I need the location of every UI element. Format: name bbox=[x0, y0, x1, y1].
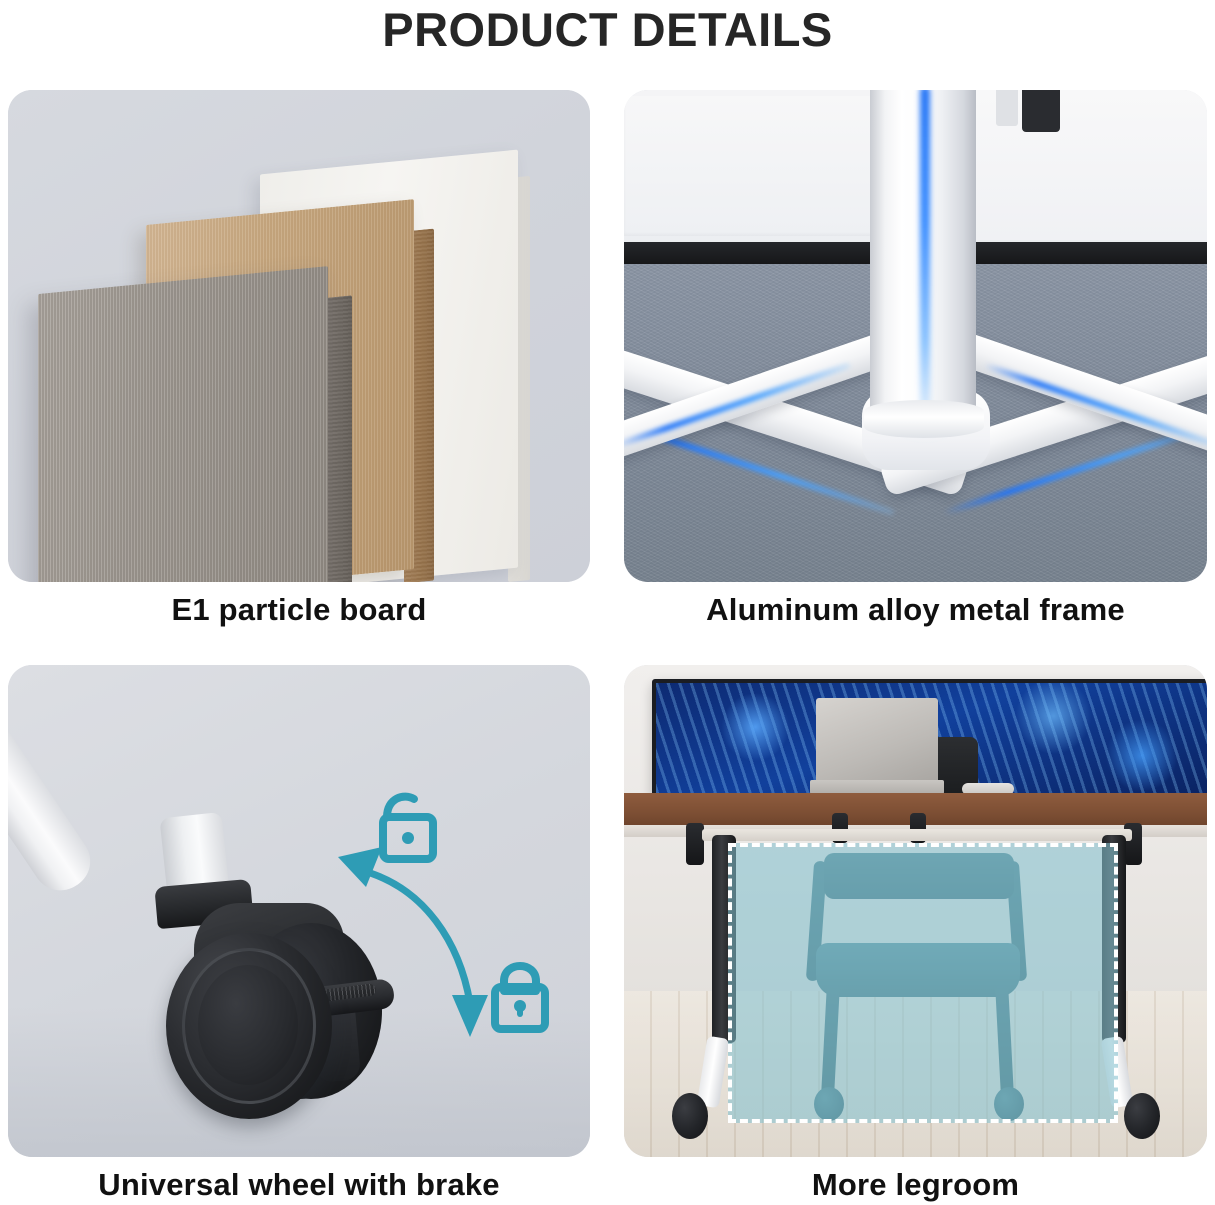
curved-double-arrow bbox=[360, 870, 470, 1003]
desk-caster-left bbox=[672, 1093, 708, 1139]
lock-indicator-group bbox=[8, 665, 590, 1157]
photo-universal-wheel bbox=[8, 665, 590, 1157]
photo-more-legroom bbox=[624, 665, 1207, 1157]
feature-cell-metal-frame: Aluminum alloy metal frame bbox=[624, 90, 1207, 582]
legroom-highlight-outline bbox=[728, 843, 1118, 1123]
desk-support-rail bbox=[702, 829, 1132, 841]
laptop-base bbox=[810, 780, 944, 794]
arrow-head-up bbox=[338, 847, 382, 887]
photo-metal-frame bbox=[624, 90, 1207, 582]
wall-fixture-dark bbox=[1022, 90, 1060, 132]
grey-woodgrain-board bbox=[38, 266, 328, 582]
desk-caster-right bbox=[1124, 1093, 1160, 1139]
caption-metal-frame: Aluminum alloy metal frame bbox=[624, 588, 1207, 632]
caption-more-legroom: More legroom bbox=[624, 1163, 1207, 1205]
laptop-screen bbox=[816, 698, 938, 782]
desk-bracket-left bbox=[686, 823, 704, 865]
column-base-collar bbox=[864, 400, 984, 438]
photo-particle-board bbox=[8, 90, 590, 582]
page-title: PRODUCT DETAILS bbox=[0, 2, 1215, 58]
feature-cell-universal-wheel: Universal wheel with brake bbox=[8, 665, 590, 1157]
lock-icon bbox=[495, 966, 545, 1029]
product-details-page: PRODUCT DETAILS E1 particle board bbox=[0, 0, 1215, 1205]
unlock-icon bbox=[383, 797, 433, 859]
caption-universal-wheel: Universal wheel with brake bbox=[8, 1163, 590, 1205]
lock-arrow-diagram bbox=[8, 665, 590, 1157]
arrow-head-down bbox=[452, 995, 488, 1037]
column-blue-glow bbox=[920, 90, 930, 426]
caption-particle-board: E1 particle board bbox=[8, 588, 590, 632]
feature-grid: E1 particle board bbox=[8, 90, 1207, 1200]
wall-fixture-light bbox=[996, 90, 1018, 126]
feature-cell-particle-board: E1 particle board bbox=[8, 90, 590, 582]
feature-cell-more-legroom: More legroom bbox=[624, 665, 1207, 1157]
